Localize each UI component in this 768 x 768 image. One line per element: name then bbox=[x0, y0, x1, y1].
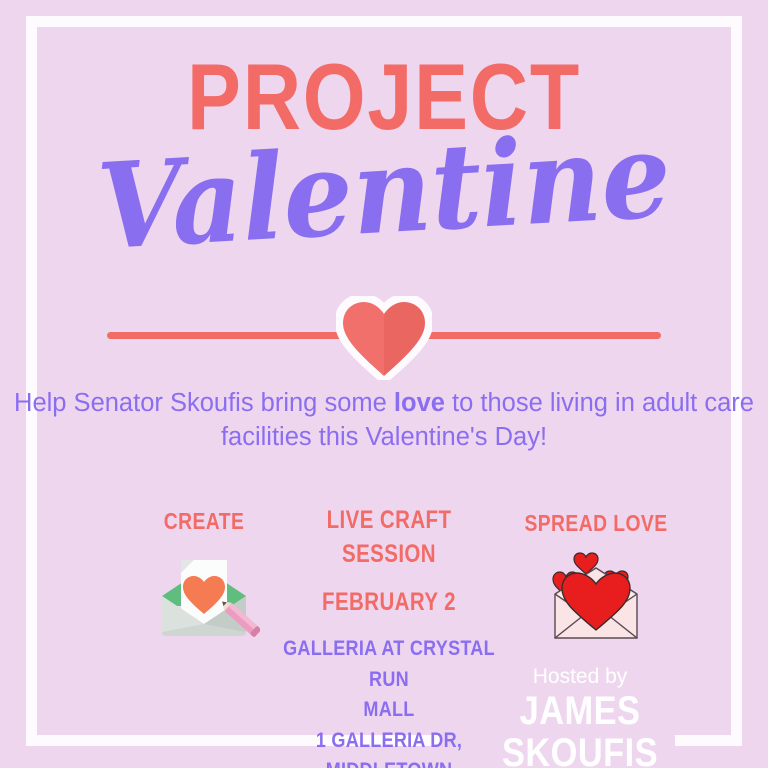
envelope-hearts-icon bbox=[496, 548, 696, 644]
host-name: JAMES SKOUFIS bbox=[451, 690, 709, 768]
host-prefix: Hosted by bbox=[430, 664, 730, 690]
event-date: FEBRUARY 2 bbox=[278, 586, 499, 620]
event-heading: LIVE CRAFT SESSION bbox=[278, 504, 499, 572]
body-copy-before: Help Senator Skoufis bring some bbox=[14, 389, 394, 417]
heart-icon bbox=[336, 296, 432, 380]
column-spread-love-heading: SPREAD LOVE bbox=[512, 510, 680, 538]
valentine-flyer: PROJECT Valentine Help Senator Skoufis b… bbox=[0, 0, 768, 768]
body-copy: Help Senator Skoufis bring some love to … bbox=[0, 386, 768, 454]
heart-divider bbox=[0, 296, 768, 376]
column-spread-love: SPREAD LOVE bbox=[496, 510, 696, 644]
frame-top-edge bbox=[26, 16, 742, 27]
body-copy-emphasis: love bbox=[394, 389, 445, 417]
host-block: Hosted by JAMES SKOUFIS State Senator bbox=[430, 664, 730, 768]
